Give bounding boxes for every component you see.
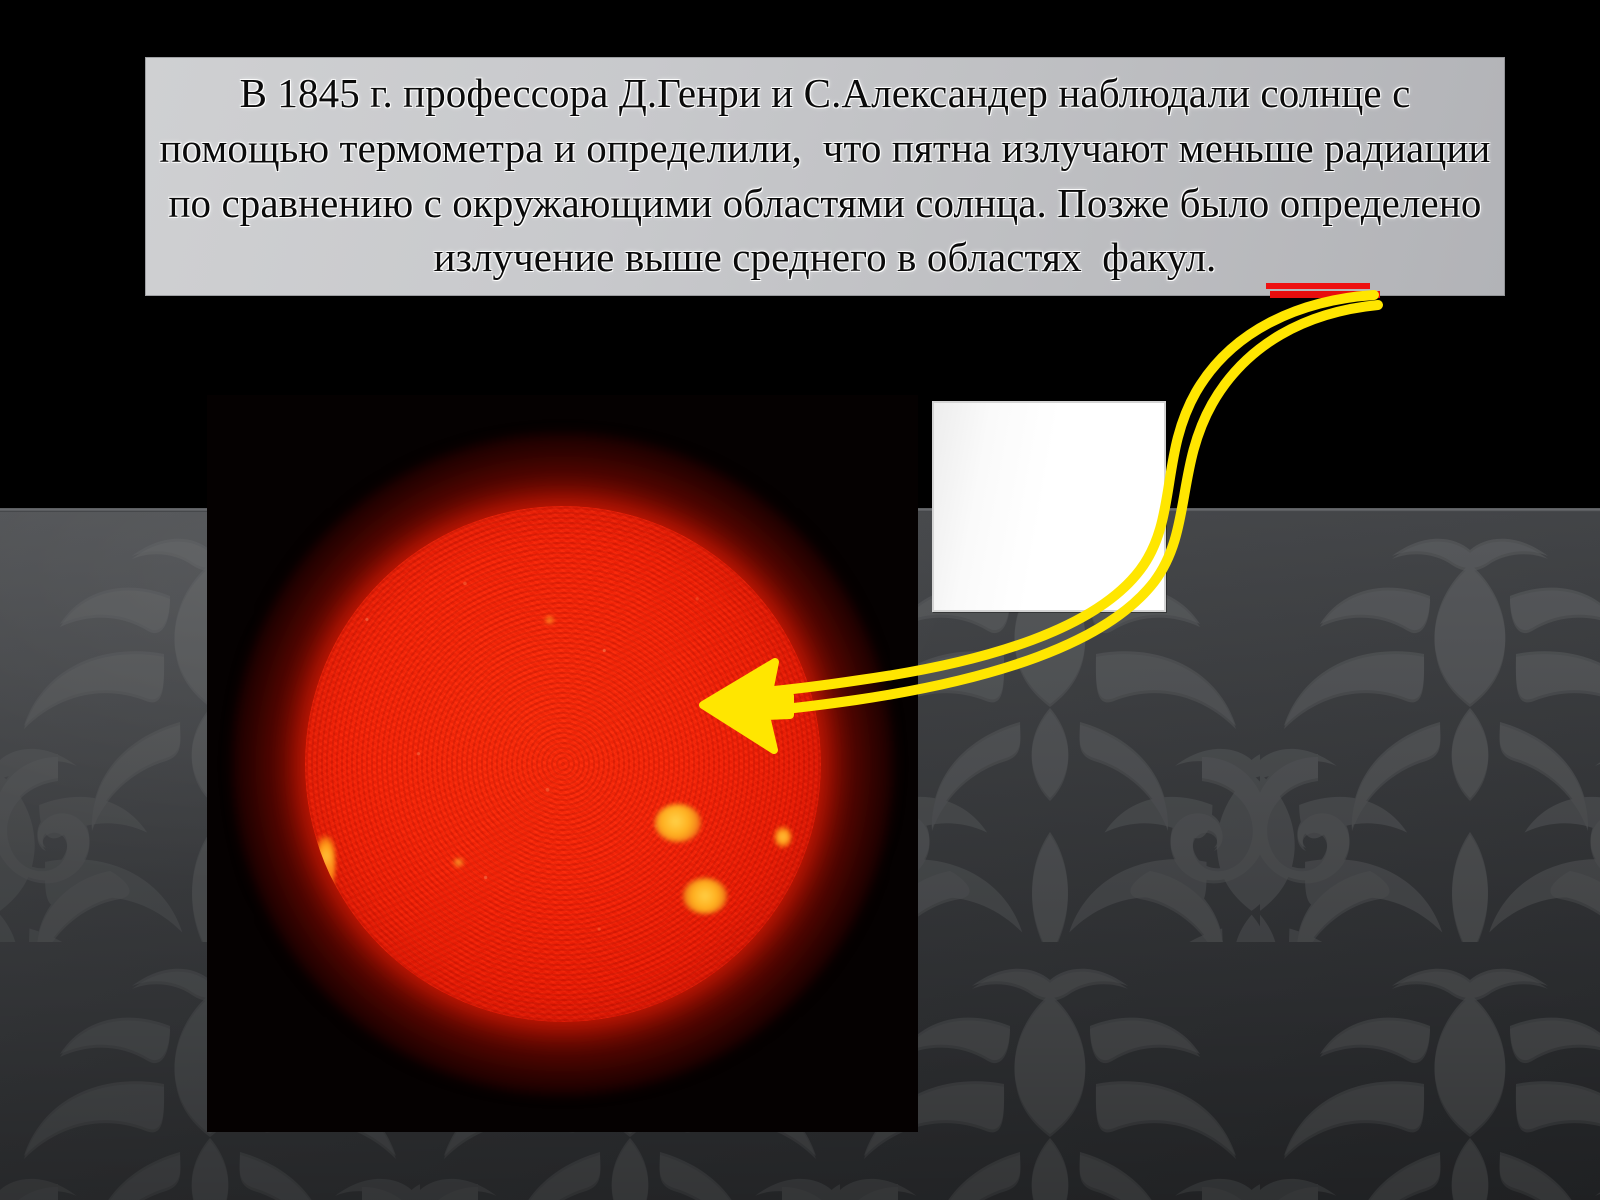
- caption-text: В 1845 г. профессора Д.Генри и С.Алексан…: [159, 66, 1491, 284]
- red-underline-upper: [1266, 283, 1370, 289]
- red-underline-lower: [1270, 291, 1380, 298]
- facula-right-limb: [775, 826, 791, 848]
- slide-canvas: В 1845 г. профессора Д.Генри и С.Алексан…: [0, 0, 1600, 1200]
- facula-second: [683, 878, 727, 914]
- sun-limb-darkening: [305, 506, 821, 1022]
- prominence-left-limb: [305, 858, 333, 920]
- sun-disk: [305, 506, 821, 1022]
- facula-main: [655, 804, 701, 842]
- sun-photograph: [207, 395, 918, 1132]
- facula-small-a: [453, 858, 464, 867]
- caption-box: В 1845 г. профессора Д.Генри и С.Алексан…: [145, 57, 1505, 296]
- facula-small-b: [545, 616, 554, 624]
- callout-white-box[interactable]: [932, 401, 1166, 612]
